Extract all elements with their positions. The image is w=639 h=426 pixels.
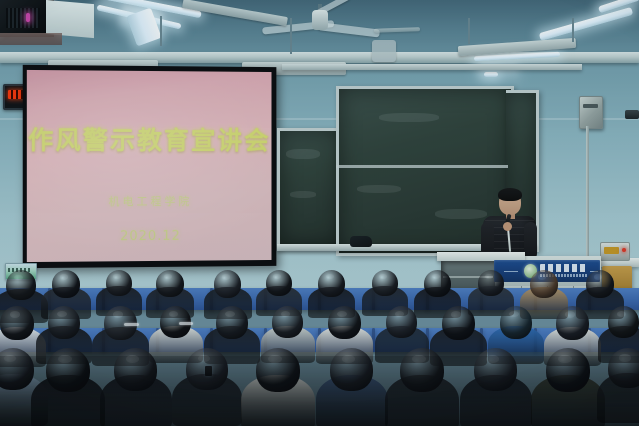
- hair-highlight: [485, 274, 493, 279]
- hair-highlight: [509, 311, 519, 317]
- chalk-smudge: [379, 113, 439, 122]
- chalk-smudge: [290, 191, 316, 198]
- device-face: [604, 247, 619, 254]
- hair-highlight: [594, 274, 602, 279]
- speaker-right-arm: [524, 222, 537, 260]
- chalk-smudge: [357, 185, 401, 193]
- hair-highlight: [222, 274, 230, 279]
- hair-highlight: [10, 311, 20, 317]
- side-device: [600, 242, 630, 261]
- blackboard-rail: [282, 64, 582, 70]
- hair-highlight: [617, 311, 626, 317]
- projector-vent: [6, 8, 40, 28]
- tube-light-end: [484, 72, 498, 77]
- hair-highlight: [169, 311, 178, 317]
- light-hanger: [290, 18, 292, 54]
- slide-title: 作风警示教育宣讲会: [27, 120, 272, 157]
- audience-area: [0, 262, 639, 426]
- projection-screen: 作风警示教育宣讲会 机电工程学院 2020.12: [23, 65, 277, 268]
- hair-highlight: [281, 311, 290, 317]
- hair-highlight: [273, 274, 281, 279]
- slide-subtitle: 机电工程学院: [27, 193, 272, 210]
- projector-base: [0, 33, 62, 45]
- projector-indicator-light: [26, 13, 30, 22]
- hair-highlight: [113, 274, 121, 279]
- hair-highlight: [432, 274, 440, 279]
- slide-date: 2020.12: [27, 228, 272, 245]
- light-hanger: [468, 18, 470, 44]
- blackboard-left-panel: [277, 128, 343, 250]
- ceiling-access-panel: [372, 40, 396, 62]
- device-indicator-light: [622, 248, 626, 252]
- hair-highlight: [57, 311, 67, 317]
- fan-hub: [312, 10, 328, 30]
- hair-highlight: [113, 311, 123, 317]
- eyeglasses-temple: [124, 323, 139, 326]
- light-hanger: [572, 18, 574, 42]
- speaker-hand: [503, 222, 512, 231]
- hair-highlight: [379, 274, 387, 279]
- hair-highlight: [451, 311, 461, 317]
- chalk-smudge: [286, 149, 320, 159]
- eyeglasses-temple: [179, 322, 193, 325]
- electrical-box: [579, 96, 603, 129]
- hair-highlight: [565, 311, 575, 317]
- chalk-smudge: [435, 209, 487, 219]
- lecture-hall-photo: 作风警示教育宣讲会 机电工程学院 2020.12: [0, 0, 639, 426]
- electrical-box-slot: [583, 104, 598, 108]
- electrical-conduit: [586, 126, 589, 262]
- hair-highlight: [60, 274, 68, 279]
- blackboard-eraser-cloth: [350, 236, 372, 247]
- foreground-shadow: [0, 356, 639, 426]
- hair-highlight: [538, 274, 546, 279]
- hair-highlight: [326, 274, 334, 279]
- hair-highlight: [225, 311, 235, 317]
- speaker-hair: [498, 188, 522, 201]
- presentation-slide: 作风警示教育宣讲会 机电工程学院 2020.12: [27, 70, 272, 262]
- light-hanger: [160, 16, 162, 46]
- hair-highlight: [395, 311, 404, 317]
- blackboard-divider: [336, 165, 508, 168]
- security-camera: [625, 110, 639, 119]
